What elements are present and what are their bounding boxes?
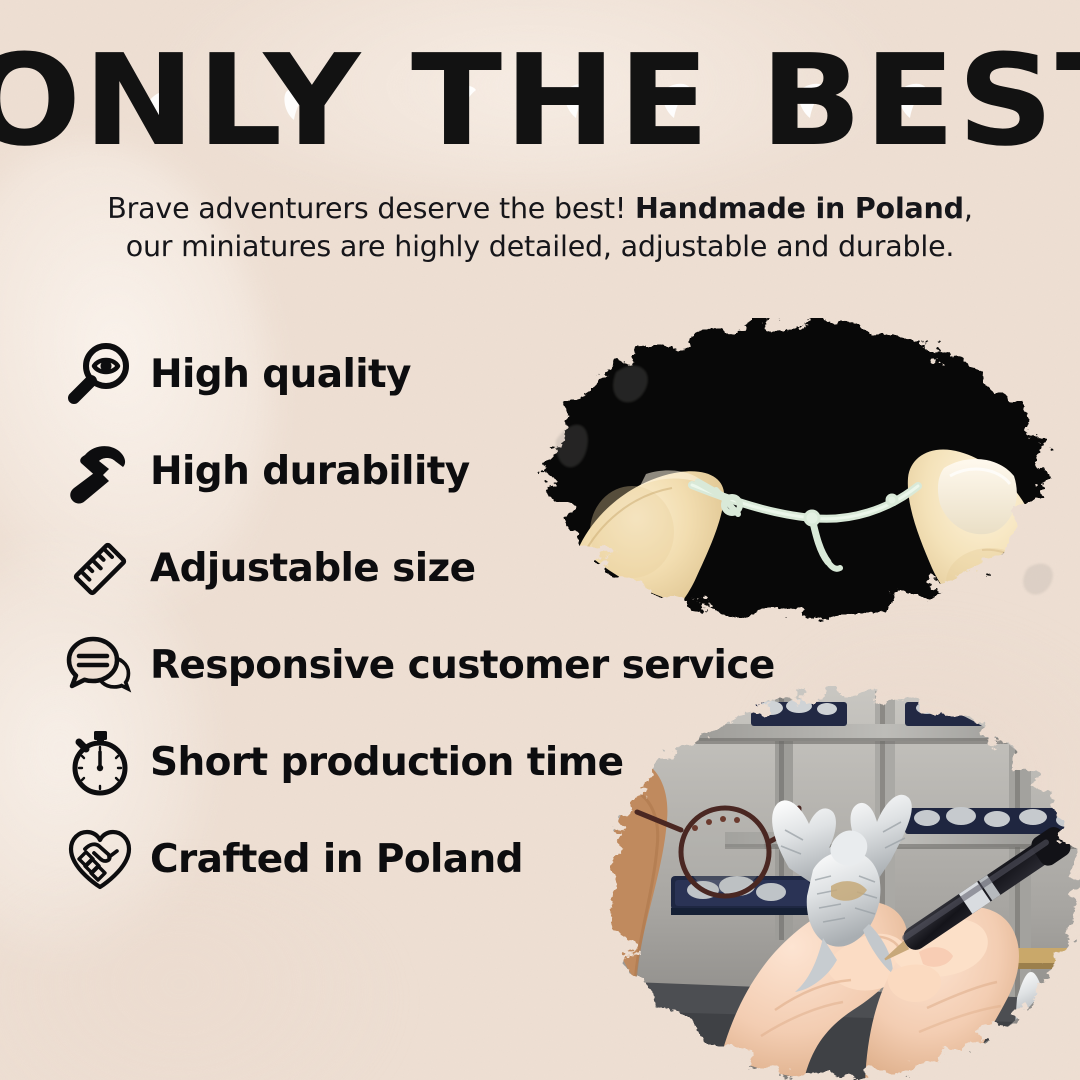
infographic-canvas: ONLY THE BEST Brave adventurers deserve … — [0, 0, 1080, 1080]
magnifier-eye-icon — [62, 337, 138, 413]
heart-handshake-icon — [62, 822, 138, 898]
feature-item: Short production time — [62, 714, 802, 811]
subtitle: Brave adventurers deserve the best! Hand… — [60, 190, 1020, 266]
subtitle-line1-lead: Brave adventurers deserve the best! — [107, 192, 635, 225]
feature-item: Responsive customer service — [62, 617, 802, 714]
feature-item: Adjustable size — [62, 520, 802, 617]
feature-item: High durability — [62, 423, 802, 520]
feature-item: High quality — [62, 326, 802, 423]
feature-list: High quality High durability — [62, 326, 802, 908]
page-title: ONLY THE BEST — [0, 38, 1080, 164]
subtitle-highlight: Handmade in Poland — [635, 192, 964, 225]
feature-label: Crafted in Poland — [150, 839, 523, 881]
feature-label: High durability — [150, 451, 470, 493]
ruler-icon — [62, 531, 138, 607]
speech-bubbles-icon — [62, 628, 138, 704]
paper-wash-bottom — [0, 880, 390, 1080]
feature-label: Short production time — [150, 742, 624, 784]
subtitle-line2: our miniatures are highly detailed, adju… — [126, 230, 955, 263]
feature-label: Adjustable size — [150, 548, 475, 590]
stopwatch-icon — [62, 725, 138, 801]
feature-label: High quality — [150, 354, 411, 396]
feature-item: Crafted in Poland — [62, 811, 802, 908]
subtitle-line1-tail: , — [964, 192, 973, 225]
feature-label: Responsive customer service — [150, 645, 775, 687]
hammer-icon — [62, 434, 138, 510]
